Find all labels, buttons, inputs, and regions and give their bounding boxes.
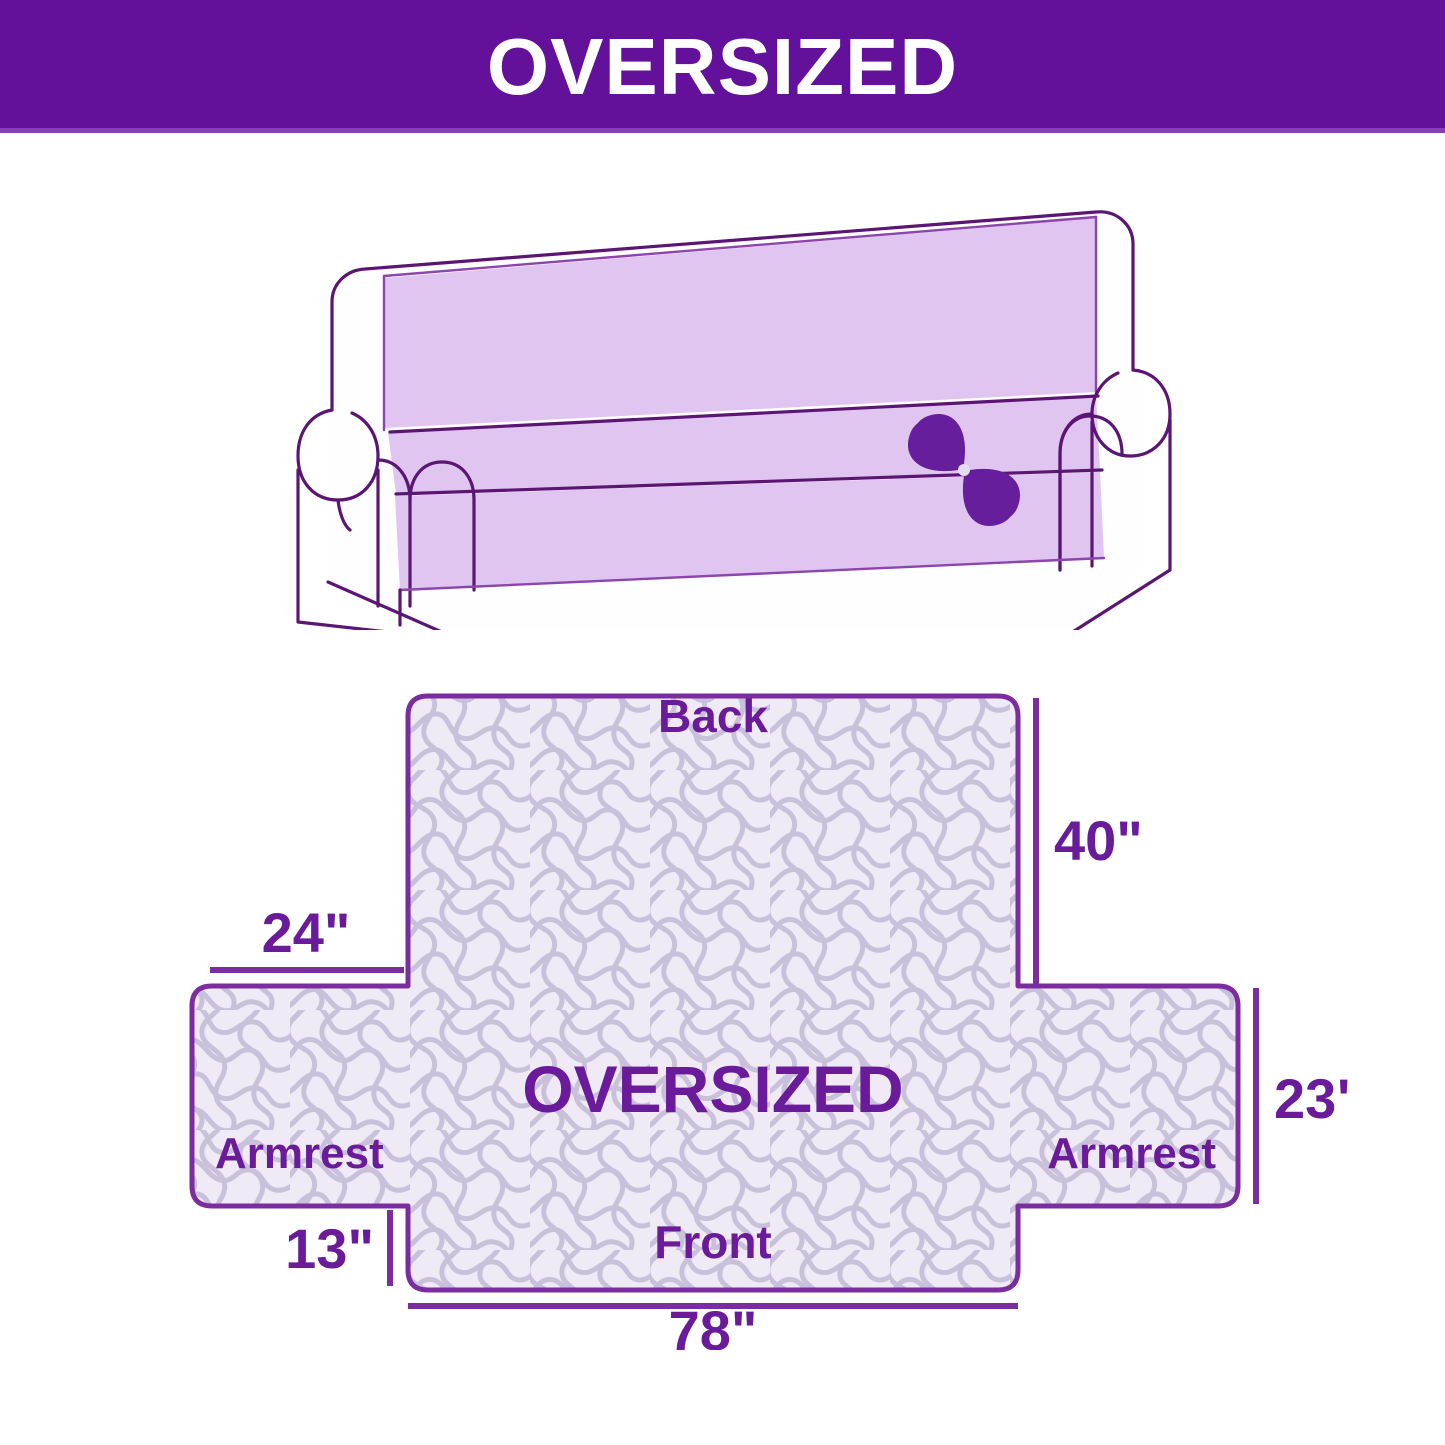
sofa-back-cushion xyxy=(384,218,1096,428)
label-front: Front xyxy=(654,1216,772,1268)
dim-back-inset-width: 24" xyxy=(262,901,351,964)
dim-front-drop: 13" xyxy=(285,1217,374,1280)
dim-front-width: 78" xyxy=(669,1299,758,1350)
sofa-illustration: .sofa-line { fill:none; stroke:#5B1573; … xyxy=(270,170,1190,630)
dim-armrest-height: 23" xyxy=(1274,1067,1350,1130)
header-banner-underline xyxy=(0,128,1445,133)
pattern-diagram: .piece { fill:url(#stipple); stroke:#7B2… xyxy=(170,650,1350,1350)
label-back: Back xyxy=(658,690,768,742)
header-banner: OVERSIZED xyxy=(0,0,1445,133)
label-oversized-center: OVERSIZED xyxy=(522,1052,903,1126)
cover-pattern-shape xyxy=(192,696,1238,1290)
label-armrest-right: Armrest xyxy=(1047,1129,1216,1178)
page-title: OVERSIZED xyxy=(487,27,958,107)
label-armrest-left: Armrest xyxy=(215,1129,384,1178)
dim-back-height: 40" xyxy=(1054,809,1143,872)
